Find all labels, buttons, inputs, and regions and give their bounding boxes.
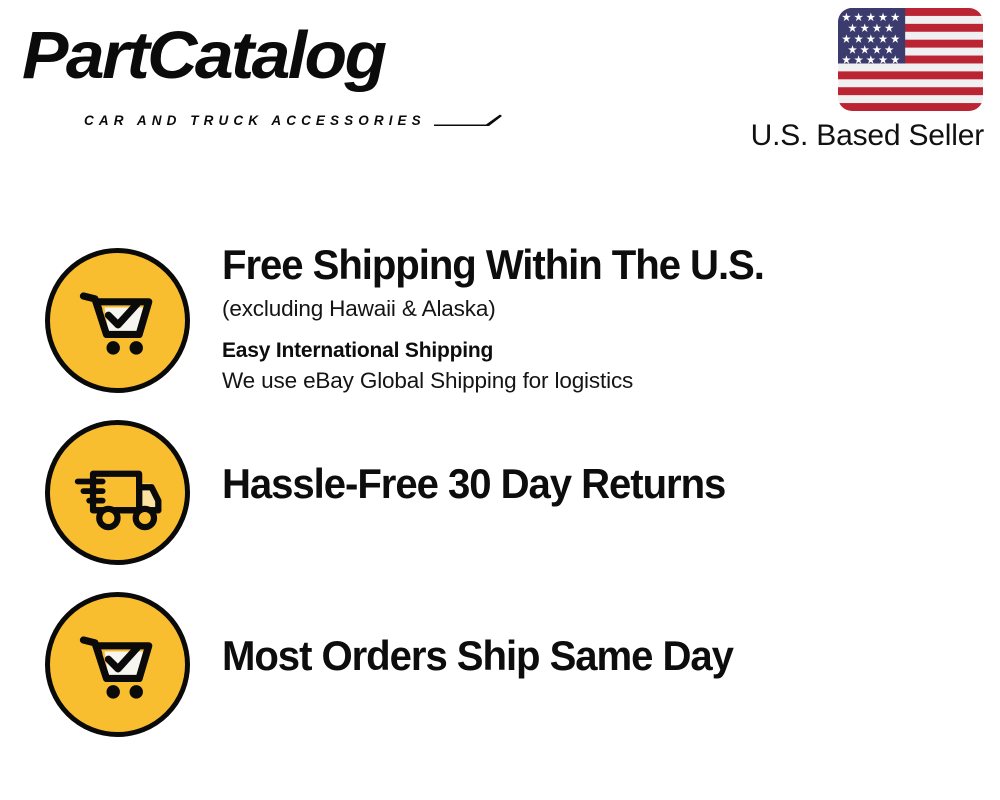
benefit-text-block: Hassle-Free 30 Day Returns [222,461,962,506]
shopping-cart-check-icon [45,592,190,737]
benefit-note: (excluding Hawaii & Alaska) [222,295,962,323]
brand-tagline: CAR AND TRUCK ACCESSORIES [84,113,426,128]
benefit-title: Free Shipping Within The U.S. [222,242,929,287]
us-flag-icon [838,8,983,111]
benefit-sub-text: We use eBay Global Shipping for logistic… [222,367,962,395]
benefit-row: Free Shipping Within The U.S. (excluding… [0,248,1000,408]
benefit-text-block: Most Orders Ship Same Day [222,633,962,678]
shopping-cart-check-icon [45,248,190,393]
delivery-truck-icon [45,420,190,565]
us-based-seller-label: U.S. Based Seller [751,119,984,153]
benefit-row: Hassle-Free 30 Day Returns [0,420,1000,570]
brand-swash-icon [434,114,502,126]
benefit-row: Most Orders Ship Same Day [0,592,1000,742]
brand-logo: PartCatalog CAR AND TRUCK ACCESSORIES [22,22,492,117]
benefit-title: Most Orders Ship Same Day [222,633,929,678]
brand-wordmark: PartCatalog [22,22,384,89]
benefit-title: Hassle-Free 30 Day Returns [222,461,929,506]
us-flag-badge [838,8,983,111]
benefit-text-block: Free Shipping Within The U.S. (excluding… [222,242,962,395]
promo-banner: PartCatalog CAR AND TRUCK ACCESSORIES [0,0,1000,800]
benefit-sub-heading: Easy International Shipping [222,338,962,363]
